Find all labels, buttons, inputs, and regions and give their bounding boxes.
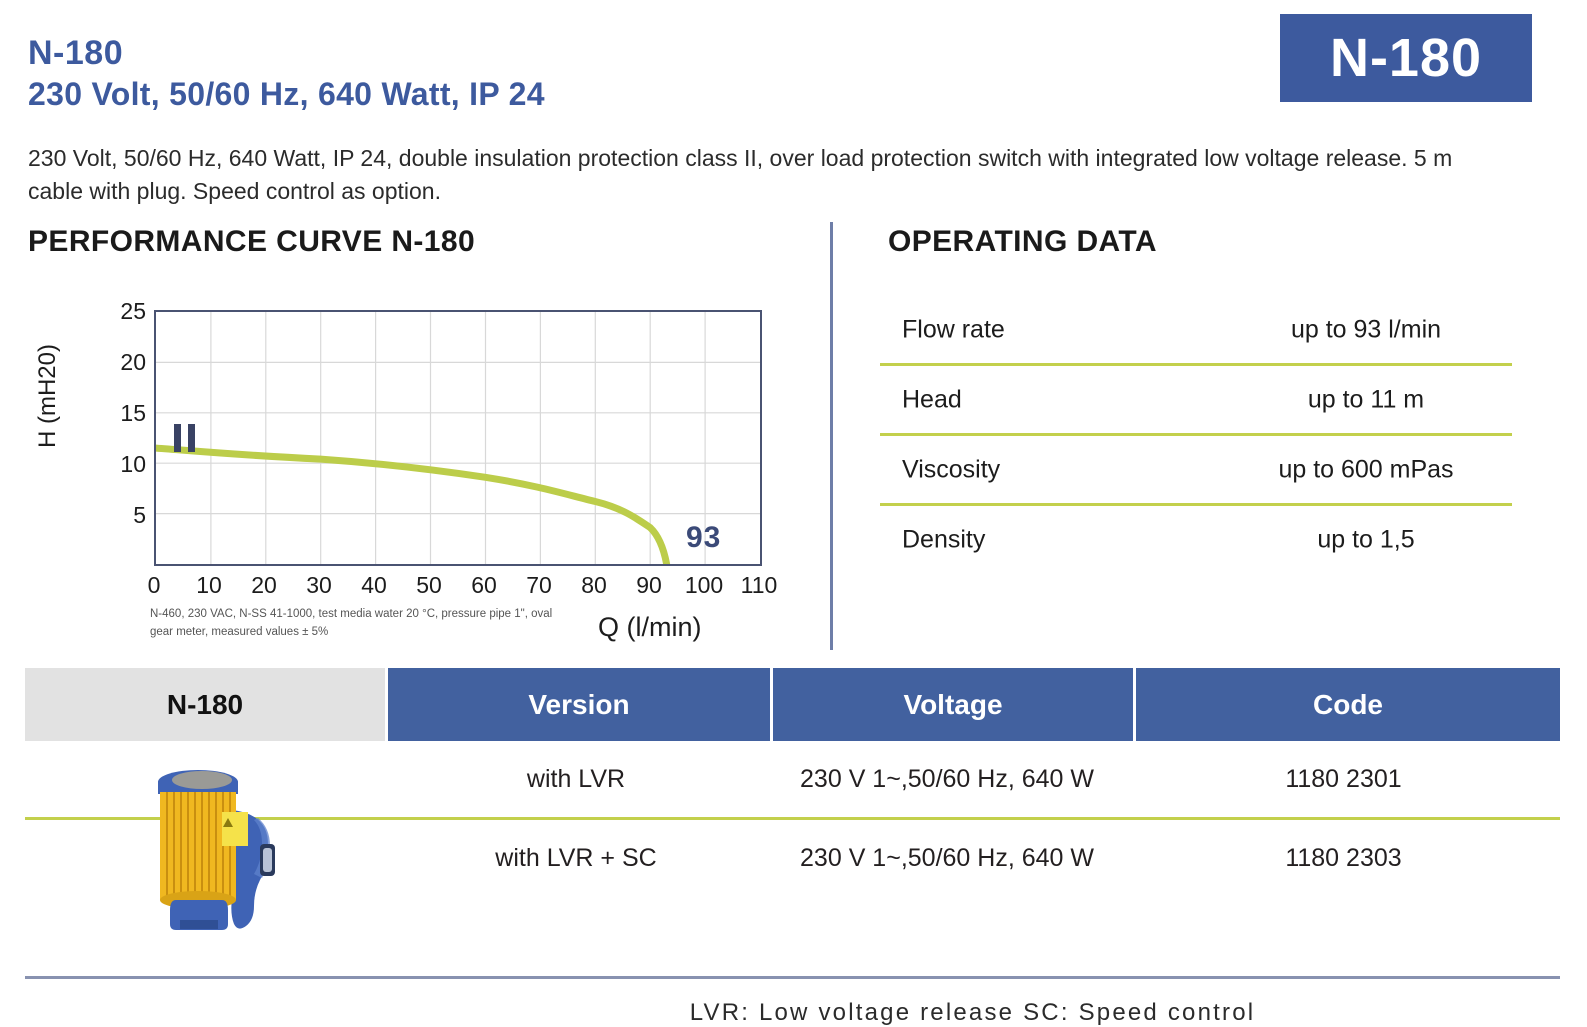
y-tick-label: 10 — [102, 451, 146, 478]
x-tick-label: 20 — [242, 572, 286, 599]
page-bottom-rule — [25, 976, 1560, 979]
operating-data-row: Head up to 11 m — [880, 363, 1512, 433]
row-code: 1180 2301 — [1127, 765, 1560, 794]
pump-switch-face — [263, 848, 272, 872]
x-tick-label: 50 — [407, 572, 451, 599]
product-header: N-180 230 Volt, 50/60 Hz, 640 Watt, IP 2… — [28, 36, 1228, 114]
pump-product-image — [140, 760, 300, 935]
y-tick-label: 5 — [102, 502, 146, 529]
operating-data-row: Viscosity up to 600 mPas — [880, 433, 1512, 503]
order-table-footnote: LVR: Low voltage release SC: Speed contr… — [385, 999, 1560, 1027]
row-version: with LVR + SC — [385, 844, 767, 873]
y-tick-label: 25 — [102, 298, 146, 325]
performance-curve-heading: PERFORMANCE CURVE N-180 — [28, 225, 475, 259]
pump-top-ring — [172, 771, 232, 789]
operating-data-label: Density — [902, 525, 985, 554]
section-divider — [830, 222, 833, 650]
logo-badge-label: N-180 — [1330, 31, 1482, 85]
product-subtitle: 230 Volt, 50/60 Hz, 640 Watt, IP 24 — [28, 74, 1228, 114]
operating-data-value: up to 93 l/min — [1220, 315, 1512, 344]
chart-gridlines-horizontal — [156, 362, 760, 513]
operating-data-label: Flow rate — [902, 315, 1005, 344]
x-tick-label: 60 — [462, 572, 506, 599]
chart-x-ticks: 0 10 20 30 40 50 60 70 80 90 100 110 — [154, 572, 814, 602]
chart-svg — [156, 312, 760, 564]
row-version: with LVR — [385, 765, 767, 794]
order-table-header-voltage: Voltage — [770, 668, 1133, 741]
operating-data-label: Head — [902, 385, 962, 414]
operating-data-label: Viscosity — [902, 455, 1000, 484]
product-description: 230 Volt, 50/60 Hz, 640 Watt, IP 24, dou… — [28, 142, 1508, 207]
protection-class-marker-bar-1 — [174, 424, 181, 452]
y-tick-label: 20 — [102, 349, 146, 376]
operating-data-value: up to 1,5 — [1220, 525, 1512, 554]
chart-plot-area: 93 — [154, 310, 762, 566]
x-tick-label: 80 — [572, 572, 616, 599]
page-title: N-180 — [28, 36, 1228, 72]
operating-data-heading: OPERATING DATA — [888, 225, 1157, 259]
operating-data-value: up to 600 mPas — [1220, 455, 1512, 484]
order-table-header-model: N-180 — [25, 668, 385, 741]
performance-chart: H (mH20) 25 20 15 10 5 — [28, 290, 818, 650]
pump-coupling-base — [180, 920, 218, 929]
row-voltage: 230 V 1~,50/60 Hz, 640 W — [767, 844, 1127, 873]
operating-data-row: Density up to 1,5 — [880, 503, 1512, 573]
operating-data-row: Flow rate up to 93 l/min — [880, 296, 1512, 363]
row-code: 1180 2303 — [1127, 844, 1560, 873]
chart-y-axis-label: H (mH20) — [34, 344, 62, 448]
operating-data-value: up to 11 m — [1220, 385, 1512, 414]
y-tick-label: 15 — [102, 400, 146, 427]
product-logo-badge: N-180 — [1280, 14, 1532, 102]
pump-warning-label — [222, 812, 248, 846]
chart-x-axis-label: Q (l/min) — [598, 612, 702, 643]
x-tick-label: 40 — [352, 572, 396, 599]
chart-curve-line — [156, 448, 667, 564]
order-table-header-code: Code — [1133, 668, 1560, 741]
chart-gridlines-vertical — [211, 312, 705, 564]
x-tick-label: 90 — [627, 572, 671, 599]
chart-y-ticks: 25 20 15 10 5 — [92, 310, 146, 566]
x-tick-label: 0 — [132, 572, 176, 599]
chart-footnote: N-460, 230 VAC, N-SS 41-1000, test media… — [150, 606, 570, 642]
max-flow-annotation: 93 — [686, 521, 721, 555]
protection-class-marker-bar-2 — [188, 424, 195, 452]
x-tick-label: 30 — [297, 572, 341, 599]
x-tick-label: 110 — [737, 572, 781, 599]
row-voltage: 230 V 1~,50/60 Hz, 640 W — [767, 765, 1127, 794]
x-tick-label: 100 — [682, 572, 726, 599]
x-tick-label: 70 — [517, 572, 561, 599]
order-table-header: N-180 Version Voltage Code — [25, 668, 1560, 741]
order-table-header-version: Version — [385, 668, 770, 741]
operating-data-table: Flow rate up to 93 l/min Head up to 11 m… — [880, 296, 1512, 573]
x-tick-label: 10 — [187, 572, 231, 599]
